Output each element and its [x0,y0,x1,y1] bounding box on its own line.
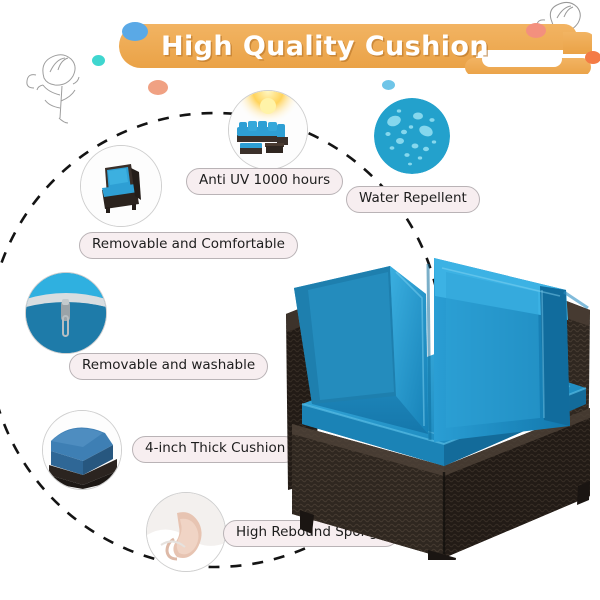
banner-orange-dot [585,51,600,64]
water-repellent-label: Water Repellent [346,186,480,213]
hand-foam-thumbnail [146,492,226,572]
teal-accent-dot [92,55,105,66]
banner-blue-dot [122,22,148,41]
page-title: High Quality Cushion [160,23,490,69]
infographic-canvas: High Quality Cushion [0,0,600,600]
armless-chair-thumbnail [80,145,162,227]
header-banner: High Quality Cushion [112,18,592,74]
banner-cyan-dot [382,80,395,90]
zipper-thumbnail [25,272,107,354]
anti-uv-thumbnail [228,90,308,170]
thick-cushion-label: 4-inch Thick Cushion [132,436,298,463]
water-repellent-thumbnail [374,98,450,174]
banner-coral-dot [526,23,546,38]
cushion-thickness-thumbnail [42,410,122,490]
anti-uv-label: Anti UV 1000 hours [186,168,343,195]
banner-salmon-dot [148,80,168,95]
flower-left-icon [27,55,79,123]
removable-comfortable-label: Removable and Comfortable [79,232,298,259]
product-image-corner-sofa [278,228,600,560]
removable-washable-label: Removable and washable [69,353,268,380]
